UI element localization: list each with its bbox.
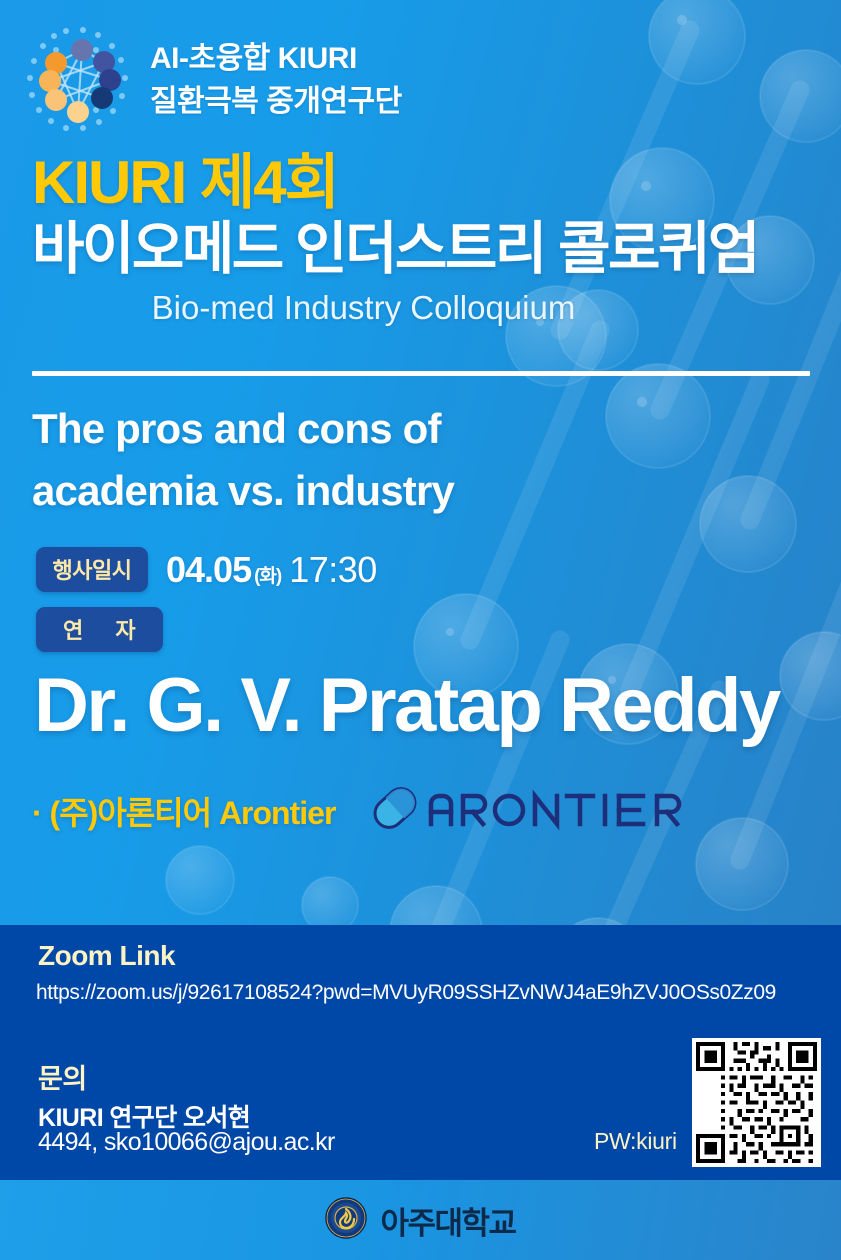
talk-title-line-2: academia vs. industry — [32, 460, 592, 522]
zoom-password: PW:kiuri — [594, 1128, 677, 1155]
talk-title: The pros and cons of academia vs. indust… — [32, 398, 592, 522]
speaker-badge: 연 자 — [36, 607, 163, 652]
organization-identity: AI-초융합 KIURI 질환극복 중개연구단 — [26, 26, 402, 134]
university-bar: 아주대학교 — [0, 1180, 841, 1260]
event-series-title: KIURI 제4회 — [32, 152, 815, 213]
speaker-label-row: 연 자 — [36, 607, 377, 652]
network-nodes-logo-icon — [26, 26, 136, 134]
event-date-badge: 행사일시 — [36, 547, 148, 592]
zoom-link-url[interactable]: https://zoom.us/j/92617108524?pwd=MVUyR0… — [36, 981, 776, 1005]
event-date-value: 04.05(화)17:30 — [166, 549, 377, 591]
speaker-affiliation-row: · (주)아론티어 Arontier — [32, 782, 815, 839]
event-subtitle: Bio-med Industry Colloquium — [32, 289, 815, 327]
event-weekday: (화) — [254, 566, 281, 587]
event-meta: 행사일시 04.05(화)17:30 연 자 — [36, 547, 377, 652]
poster: AI-초융합 KIURI 질환극복 중개연구단 KIURI 제4회 바이오메드 … — [0, 0, 841, 1260]
arontier-capsule-icon — [370, 783, 421, 833]
event-date-row: 행사일시 04.05(화)17:30 — [36, 547, 377, 592]
organization-name: AI-초융합 KIURI 질환극복 중개연구단 — [150, 37, 402, 124]
ajou-university-emblem-icon — [325, 1197, 367, 1244]
speaker-name: Dr. G. V. Pratap Reddy — [34, 668, 779, 744]
university-name: 아주대학교 — [380, 1198, 515, 1243]
arontier-logo: ARONTIER — [369, 782, 729, 839]
inquiry-contact-email[interactable]: 4494, sko10066@ajou.ac.kr — [38, 1128, 335, 1157]
event-main-title: 바이오메드 인더스트리 콜로퀴엄 — [32, 217, 815, 283]
talk-title-line-1: The pros and cons of — [32, 398, 592, 460]
title-block: KIURI 제4회 바이오메드 인더스트리 콜로퀴엄 Bio-med Indus… — [32, 152, 815, 327]
inquiry-heading: 문의 — [38, 1057, 87, 1096]
event-date-number: 04.05 — [166, 549, 251, 590]
organization-line-1: AI-초융합 KIURI — [150, 37, 402, 81]
qr-code-icon[interactable] — [692, 1038, 821, 1167]
speaker-affiliation: · (주)아론티어 Arontier — [32, 788, 335, 834]
organization-line-2: 질환극복 중개연구단 — [150, 80, 402, 124]
zoom-link-heading: Zoom Link — [38, 940, 175, 972]
event-time: 17:30 — [289, 549, 377, 590]
title-divider — [32, 371, 810, 376]
